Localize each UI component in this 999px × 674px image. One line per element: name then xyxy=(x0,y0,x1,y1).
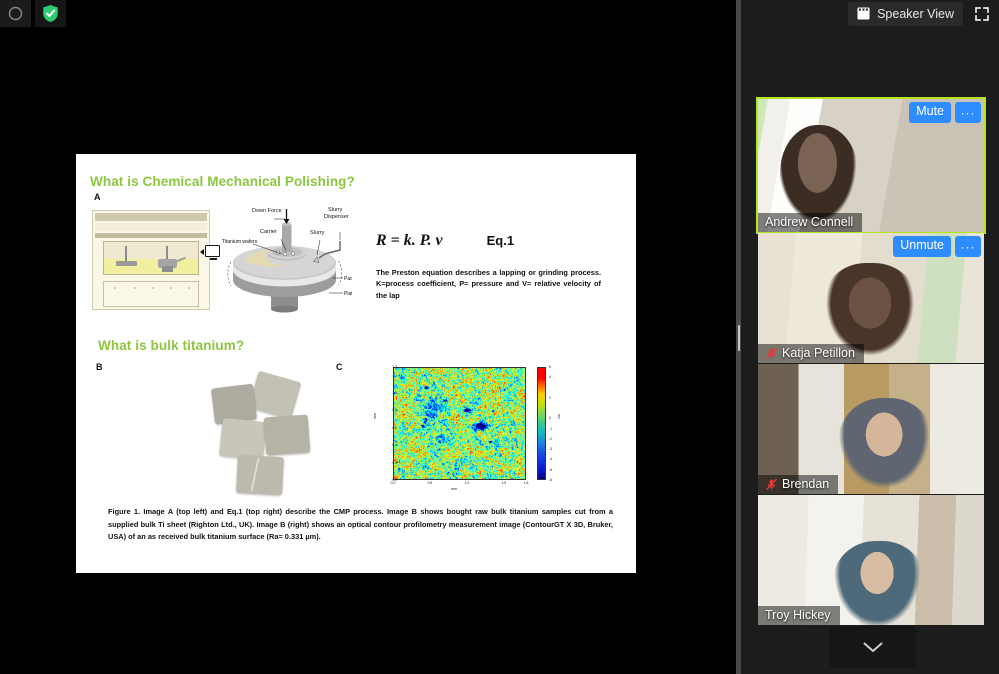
heatmap-y-tick: 0.4 xyxy=(379,443,397,447)
profilometry-heatmap-chart: mm mm um 0.00.20.40.60.81.01.21.30.00.51… xyxy=(361,359,566,499)
participant-tile-andrew-connell[interactable]: Mute ··· Andrew Connell xyxy=(758,99,984,232)
cmp-machine-illustration xyxy=(92,210,210,310)
panel-label-a: A xyxy=(94,192,101,202)
heatmap-x-tick: 1.8 xyxy=(519,481,533,485)
zoom-meeting-window: What is Chemical Mechanical Polishing? A xyxy=(0,0,999,674)
shield-check-icon xyxy=(42,4,59,23)
participant-name-strip: Brendan xyxy=(758,475,838,494)
panel-label-b: B xyxy=(96,362,103,372)
label-pad: Pad xyxy=(344,276,352,282)
unmute-button[interactable]: Unmute xyxy=(893,236,951,257)
heatmap-y-tick: 1.0 xyxy=(379,391,397,395)
colorbar-tick: -6 xyxy=(549,478,552,482)
colorbar-unit-label: um xyxy=(557,414,561,419)
participant-name-strip: Katja Petillon xyxy=(758,344,864,363)
heatmap-y-tick: 0.2 xyxy=(379,461,397,465)
colorbar-tick: -3 xyxy=(549,447,552,451)
grid-icon xyxy=(857,7,870,20)
label-slurry-dispenser-1: Slurry xyxy=(328,207,343,213)
muted-microphone-icon xyxy=(765,478,778,491)
more-options-button[interactable]: ··· xyxy=(955,236,981,257)
mute-button[interactable]: Mute xyxy=(909,102,951,123)
heatmap-y-axis-title: mm xyxy=(373,413,377,419)
heatmap-x-axis-title: mm xyxy=(451,487,457,491)
window-top-left-controls xyxy=(0,0,80,27)
encryption-status-button[interactable] xyxy=(35,0,66,27)
tile-controls: Unmute ··· xyxy=(893,236,981,257)
participants-video-pane: Speaker View Mute ··· Andrew Connell xyxy=(741,0,999,674)
label-titanium-wafers: Titanium wafers xyxy=(222,239,258,245)
label-slurry-dispenser-2: Dispenser xyxy=(324,214,349,220)
participant-name: Brendan xyxy=(782,477,829,491)
monitor-icon xyxy=(205,245,220,257)
colorbar-tick: 2 xyxy=(549,396,551,400)
tile-controls: Mute ··· xyxy=(909,102,981,123)
heatmap-canvas xyxy=(394,368,525,479)
equation-block: R = k. P. vEq.1 The Preston equation des… xyxy=(376,232,616,301)
colorbar-tick: 5 xyxy=(549,365,551,369)
heatmap-x-tick: 1.5 xyxy=(497,481,511,485)
label-down-force: Down Force xyxy=(252,208,282,214)
panel-label-c: C xyxy=(336,362,343,372)
equation-description: The Preston equation describes a lapping… xyxy=(376,267,601,301)
slide-heading-cmp: What is Chemical Mechanical Polishing? xyxy=(90,174,355,189)
participant-name-strip: Andrew Connell xyxy=(758,213,862,232)
speaker-view-button[interactable]: Speaker View xyxy=(848,2,963,26)
fullscreen-icon xyxy=(975,7,989,21)
preston-equation: R = k. P. v xyxy=(376,232,443,250)
view-controls: Speaker View xyxy=(848,0,995,27)
chevron-down-icon xyxy=(863,642,883,653)
heatmap-x-tick: 1.0 xyxy=(460,481,474,485)
label-carrier: Carrier xyxy=(260,229,277,235)
fullscreen-button[interactable] xyxy=(969,2,995,26)
heatmap-colorbar xyxy=(537,367,546,480)
scroll-down-button[interactable] xyxy=(829,626,916,668)
participant-name-strip: Troy Hickey xyxy=(758,606,840,625)
monitor-arrow-icon xyxy=(200,249,204,255)
muted-microphone-icon xyxy=(765,347,778,360)
label-platen: Platen xyxy=(344,291,352,297)
heatmap-y-tick: 1.2 xyxy=(379,374,397,378)
circle-icon xyxy=(8,6,23,21)
participant-tile-brendan[interactable]: Brendan xyxy=(758,364,984,494)
heatmap-plot-area xyxy=(393,367,526,480)
slide-heading-bulk-titanium: What is bulk titanium? xyxy=(98,338,244,353)
shared-screen-pane: What is Chemical Mechanical Polishing? A xyxy=(0,0,737,674)
colorbar-tick: -5 xyxy=(549,468,552,472)
heatmap-y-tick: 1.3 xyxy=(379,365,397,369)
cmp-polisher-diagram: Down Force Slurry Dispenser Slurry Carri… xyxy=(222,202,352,314)
heatmap-x-tick: 0.0 xyxy=(386,481,400,485)
label-slurry: Slurry xyxy=(310,230,325,236)
colorbar-tick: -1 xyxy=(549,427,552,431)
colorbar-tick: -4 xyxy=(549,457,552,461)
participant-name: Andrew Connell xyxy=(765,215,853,229)
colorbar-tick: 4 xyxy=(549,375,551,379)
heatmap-x-tick: 0.5 xyxy=(423,481,437,485)
heatmap-y-tick: 0.8 xyxy=(379,408,397,412)
presentation-slide: What is Chemical Mechanical Polishing? A xyxy=(76,154,636,573)
colorbar-tick: -2 xyxy=(549,437,552,441)
participant-tile-katja-petillon[interactable]: Unmute ··· Katja Petillon xyxy=(758,233,984,363)
more-options-button[interactable]: ··· xyxy=(955,102,981,123)
speaker-view-label: Speaker View xyxy=(877,7,954,21)
figure-caption: Figure 1. Image A (top left) and Eq.1 (t… xyxy=(108,506,613,544)
heatmap-y-tick: 0.6 xyxy=(379,426,397,430)
colorbar-tick: 0 xyxy=(549,416,551,420)
titanium-samples-photo xyxy=(181,372,321,492)
window-circle-button[interactable] xyxy=(0,0,31,27)
participant-tile-troy-hickey[interactable]: Troy Hickey xyxy=(758,495,984,625)
participant-name: Troy Hickey xyxy=(765,608,831,622)
splitter-grip[interactable] xyxy=(738,325,740,351)
participant-name: Katja Petillon xyxy=(782,346,855,360)
equation-number: Eq.1 xyxy=(487,233,514,248)
